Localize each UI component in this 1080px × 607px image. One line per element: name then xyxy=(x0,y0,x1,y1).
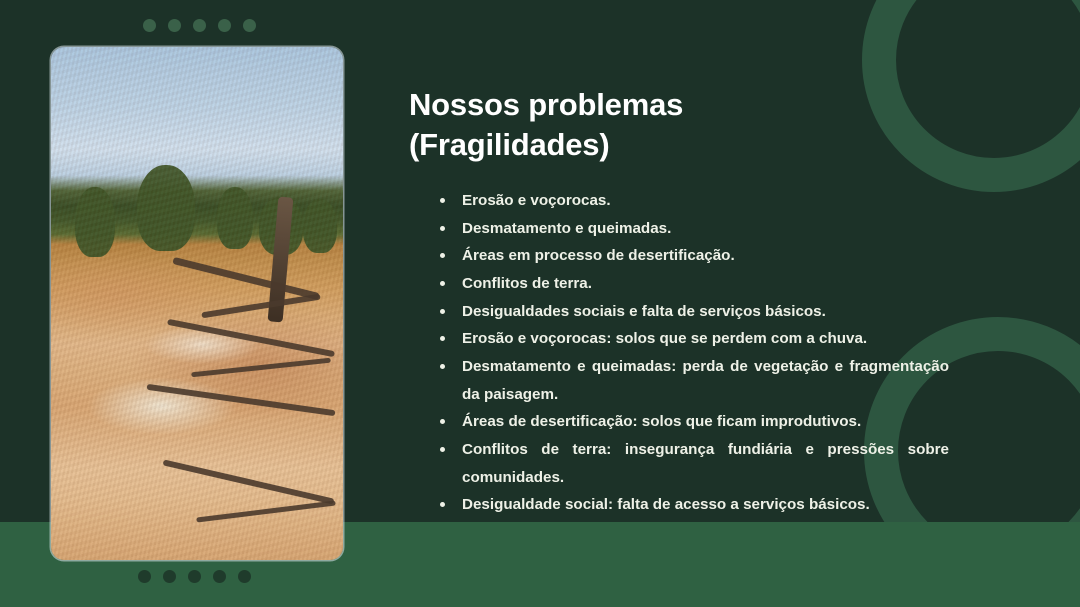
decorative-dot xyxy=(188,570,201,583)
dot-row-top xyxy=(143,19,256,32)
presentation-slide: Nossos problemas (Fragilidades) Erosão e… xyxy=(0,0,1080,607)
list-item: Áreas de desertificação: solos que ficam… xyxy=(440,408,949,436)
decorative-dot xyxy=(168,19,181,32)
list-item: Conflitos de terra: insegurança fundiári… xyxy=(440,436,949,491)
list-item: Erosão e voçorocas. xyxy=(440,187,949,215)
decorative-dot xyxy=(163,570,176,583)
slide-content: Nossos problemas (Fragilidades) Erosão e… xyxy=(409,85,949,519)
decorative-dot xyxy=(143,19,156,32)
list-item: Erosão e voçorocas: solos que se perdem … xyxy=(440,325,949,353)
decorative-dot xyxy=(193,19,206,32)
dot-row-bottom xyxy=(138,570,251,583)
decorative-dot xyxy=(213,570,226,583)
list-item: Desigualdade social: falta de acesso a s… xyxy=(440,491,949,519)
decorative-dot xyxy=(238,570,251,583)
list-item: Desigualdades sociais e falta de serviço… xyxy=(440,298,949,326)
photo-texture-overlay xyxy=(51,47,343,560)
decorative-dot xyxy=(243,19,256,32)
list-item: Desmatamento e queimadas. xyxy=(440,215,949,243)
list-item: Desmatamento e queimadas: perda de veget… xyxy=(440,353,949,408)
decorative-dot xyxy=(138,570,151,583)
list-item: Conflitos de terra. xyxy=(440,270,949,298)
list-item: Áreas em processo de desertificação. xyxy=(440,242,949,270)
page-title: Nossos problemas (Fragilidades) xyxy=(409,85,949,165)
erosion-landscape-photo xyxy=(51,47,343,560)
problems-bullet-list: Erosão e voçorocas. Desmatamento e queim… xyxy=(409,187,949,519)
decorative-dot xyxy=(218,19,231,32)
